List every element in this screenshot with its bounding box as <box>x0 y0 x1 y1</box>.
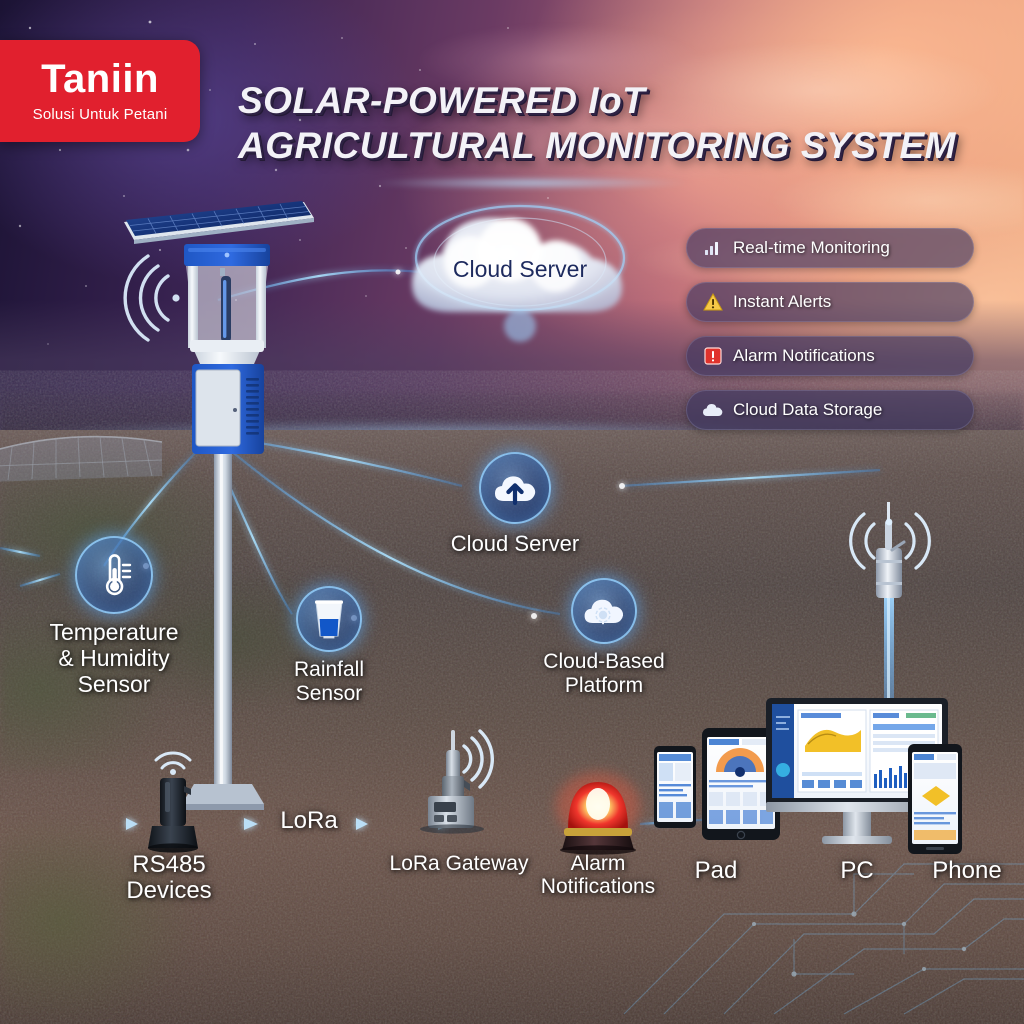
brand-logo-badge: Taniin Solusi Untuk Petani <box>0 40 200 142</box>
wifi-signal-icon <box>125 256 179 340</box>
node-ring <box>75 536 153 614</box>
cloud-icon <box>703 400 723 420</box>
node-label: Rainfall Sensor <box>294 658 364 705</box>
light-trap-chamber <box>186 266 268 364</box>
label-lora-link: LoRa <box>254 808 364 834</box>
cloud-server-label: Cloud Server <box>390 256 650 283</box>
node-label: Temperature & Humidity Sensor <box>49 620 178 697</box>
feature-pill-label: Alarm Notifications <box>733 346 875 366</box>
label-pad: Pad <box>668 858 764 884</box>
thermometer-icon <box>92 552 136 598</box>
rain-gauge-icon <box>311 598 347 640</box>
brand-tagline: Solusi Untuk Petani <box>33 106 168 123</box>
wifi-signal-icon <box>464 731 492 787</box>
solar-panel <box>124 201 314 244</box>
feature-pill-real-time-monitoring[interactable]: Real-time Monitoring <box>686 228 974 268</box>
lora-gateway-device <box>408 730 518 840</box>
label-pc: PC <box>812 858 902 884</box>
control-cabinet <box>192 364 264 454</box>
feature-pill-list: Real-time Monitoring Instant Alerts <box>686 228 974 444</box>
warning-triangle-icon <box>703 292 723 312</box>
alarm-exclamation-icon <box>703 346 723 366</box>
solar-monitoring-station <box>108 188 348 828</box>
cloud-upload-icon <box>492 470 538 506</box>
node-label: Cloud Server <box>451 532 579 557</box>
node-cloud-based-platform[interactable]: Cloud-Based Platform <box>516 578 692 697</box>
node-label: Cloud-Based Platform <box>543 650 664 697</box>
label-alarm-notifications: Alarm Notifications <box>530 852 666 898</box>
infographic-canvas: Taniin Solusi Untuk Petani SOLAR-POWERED… <box>0 0 1024 1024</box>
page-title: SOLAR-POWERED IoT AGRICULTURAL MONITORIN… <box>238 78 998 168</box>
feature-pill-label: Real-time Monitoring <box>733 238 890 258</box>
feature-pill-cloud-data-storage[interactable]: Cloud Data Storage <box>686 390 974 430</box>
feature-pill-label: Instant Alerts <box>733 292 831 312</box>
bar-chart-icon <box>703 238 723 258</box>
node-ring <box>296 586 362 652</box>
rs485-device <box>138 760 218 852</box>
feature-pill-instant-alerts[interactable]: Instant Alerts <box>686 282 974 322</box>
alarm-beacon-light <box>552 772 644 854</box>
title-line-2: AGRICULTURAL MONITORING SYSTEM <box>238 123 998 168</box>
device-phone-left <box>654 746 696 828</box>
node-rainfall-sensor[interactable]: Rainfall Sensor <box>258 586 400 705</box>
feature-pill-alarm-notifications[interactable]: Alarm Notifications <box>686 336 974 376</box>
title-line-1: SOLAR-POWERED IoT <box>238 78 998 123</box>
device-cluster <box>650 690 1024 870</box>
label-rs485-devices: RS485 Devices <box>84 852 254 905</box>
device-phone-right <box>908 744 962 854</box>
node-ring <box>479 452 551 524</box>
node-ring <box>571 578 637 644</box>
node-temperature-humidity-sensor[interactable]: Temperature & Humidity Sensor <box>14 536 214 697</box>
feature-pill-label: Cloud Data Storage <box>733 400 882 420</box>
label-lora-gateway: LoRa Gateway <box>374 852 544 875</box>
node-cloud-server-upload[interactable]: Cloud Server <box>440 452 590 557</box>
brand-name: Taniin <box>41 59 159 99</box>
cloud-gear-icon <box>582 593 626 629</box>
label-phone: Phone <box>912 858 1022 884</box>
